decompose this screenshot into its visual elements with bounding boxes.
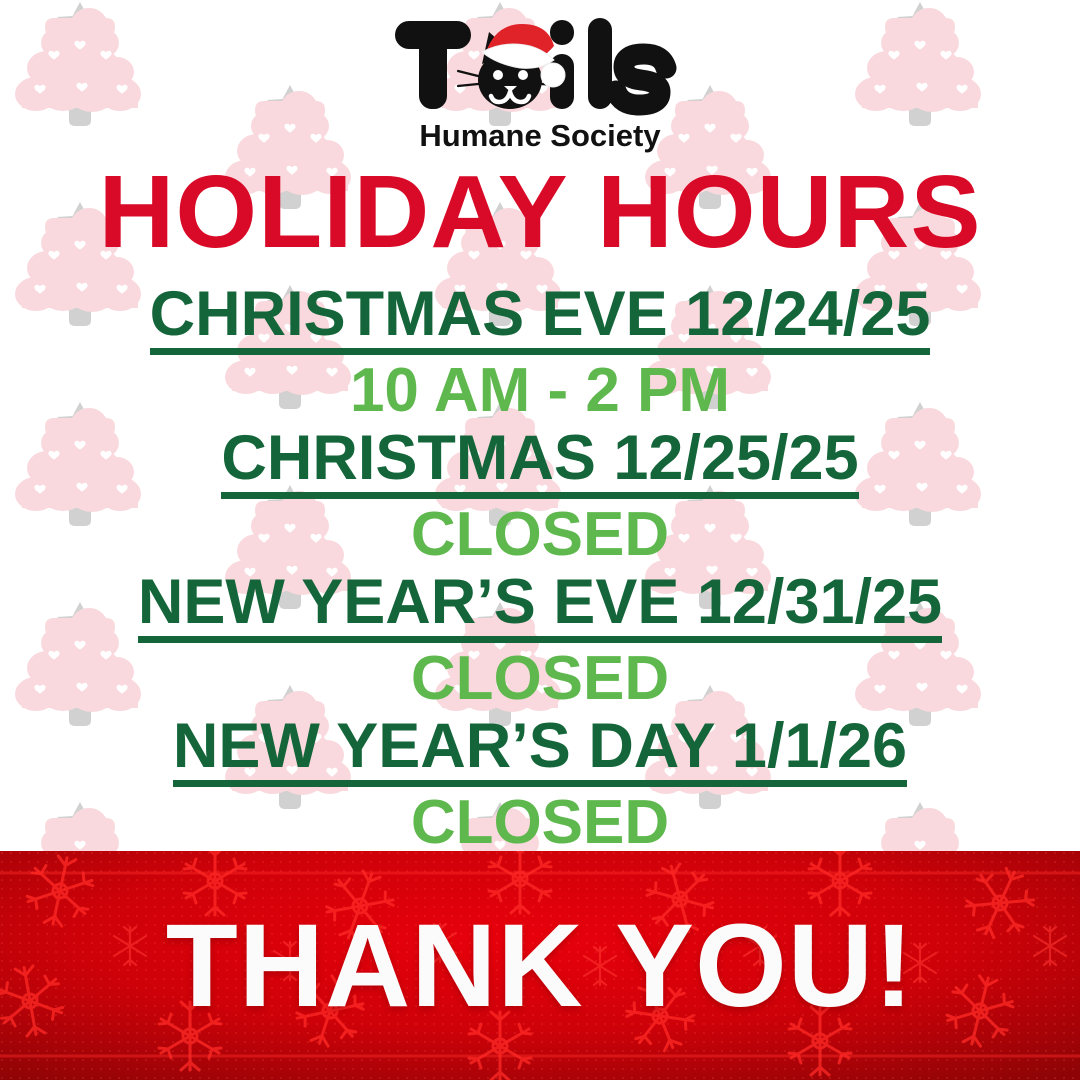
cat-face-santa-hat-icon bbox=[458, 24, 565, 109]
hours-time-value: CLOSED bbox=[0, 501, 1080, 569]
hours-row: CHRISTMAS 12/25/25 CLOSED bbox=[0, 426, 1080, 569]
hours-day-label: NEW YEAR’S EVE 12/31/25 bbox=[138, 570, 942, 643]
page-title: HOLIDAY HOURS bbox=[0, 160, 1080, 264]
thank-you-banner: THANK YOU! bbox=[0, 851, 1080, 1080]
logo-subtitle-text: Humane Society bbox=[419, 118, 661, 153]
hours-row: NEW YEAR’S EVE 12/31/25 CLOSED bbox=[0, 570, 1080, 713]
holiday-hours-list: CHRISTMAS EVE 12/24/25 10 AM - 2 PM CHRI… bbox=[0, 282, 1080, 858]
tails-humane-society-logo: Humane Society Tails Humane Society bbox=[0, 8, 1080, 160]
hours-time-value: CLOSED bbox=[0, 645, 1080, 713]
hours-row: NEW YEAR’S DAY 1/1/26 CLOSED bbox=[0, 714, 1080, 857]
thank-you-text: THANK YOU! bbox=[0, 851, 1080, 1080]
hours-row: CHRISTMAS EVE 12/24/25 10 AM - 2 PM bbox=[0, 282, 1080, 425]
hours-day-label: NEW YEAR’S DAY 1/1/26 bbox=[173, 714, 907, 787]
hours-time-value: 10 AM - 2 PM bbox=[0, 357, 1080, 425]
hours-day-label: CHRISTMAS EVE 12/24/25 bbox=[150, 282, 931, 355]
holiday-hours-poster: Humane Society Tails Humane Society HOLI… bbox=[0, 0, 1080, 1080]
hours-time-value: CLOSED bbox=[0, 789, 1080, 857]
logo-artwork: Humane Society bbox=[390, 8, 690, 160]
hours-day-label: CHRISTMAS 12/25/25 bbox=[221, 426, 858, 499]
